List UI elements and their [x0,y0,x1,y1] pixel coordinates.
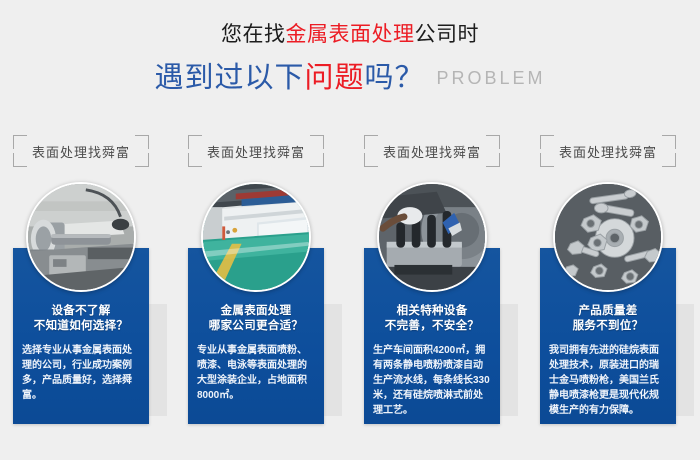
corner-bracket-top-left-icon [13,135,27,149]
card-text-block: 产品质量差 服务不到位？ 我司拥有先进的硅烷表面处理技术，原装进口的瑞士金马喷粉… [540,304,676,418]
card-text-block: 设备不了解 不知道如何选择？ 选择专业从事金属表面处理的公司，行业成功案例多，产… [13,304,149,403]
corner-bracket-top-right-icon [662,135,676,149]
heading-line-1: 您在找金属表面处理公司时 [0,22,700,48]
corner-bracket-bottom-right-icon [486,153,500,167]
card-title-line-1: 产品质量差 [549,304,667,319]
brand-tag-label: 表面处理找舜富 [32,142,130,161]
brand-tag: 表面处理找舜富 [184,134,328,168]
heading-line2-suffix: 吗？ [364,62,424,94]
card-text-block: 金属表面处理 哪家公司更合适？ 专业从事金属表面喷粉、喷漆、电泳等表面处理的大型… [188,304,324,403]
corner-bracket-bottom-left-icon [540,153,554,167]
brand-tag: 表面处理找舜富 [360,134,504,168]
card-title: 产品质量差 服务不到位？ [549,304,667,334]
problem-card[interactable]: 表面处理找舜富 金属表面处理 哪家公司更合适？ 专业从事金属表面喷粉、喷漆、电泳… [178,134,334,434]
card-title-line-2: 哪家公司更合适？ [197,319,315,334]
corner-bracket-bottom-right-icon [135,153,149,167]
heading-line1-highlight: 金属表面处理 [286,23,415,46]
heading-english-label: PROBLEM [437,68,546,88]
card-title-line-1: 设备不了解 [22,304,140,319]
corner-bracket-bottom-left-icon [13,153,27,167]
card-title: 相关特种设备 不完善，不安全？ [373,304,491,334]
heading-line2-prefix: 遇到过以下 [154,62,304,94]
brand-tag: 表面处理找舜富 [536,134,680,168]
corner-bracket-top-right-icon [486,135,500,149]
card-body-text: 选择专业从事金属表面处理的公司，行业成功案例多，产品质量好，选择舜富。 [22,343,140,403]
corner-bracket-top-left-icon [540,135,554,149]
problem-card[interactable]: 表面处理找舜富 设备不了解 不知道如何选择？ 选择专业从事金属表面处理的公司，行… [3,134,159,434]
brand-tag-label: 表面处理找舜富 [207,142,305,161]
corner-bracket-top-right-icon [310,135,324,149]
page-root: 您在找金属表面处理公司时 遇到过以下问题吗？PROBLEM 表面处理找舜富 设备… [0,0,700,460]
card-title-line-2: 服务不到位？ [549,319,667,334]
metal-parts-machining-photo [377,182,487,292]
card-title-line-2: 不知道如何选择？ [22,319,140,334]
problem-card[interactable]: 表面处理找舜富 产品质量差 服务不到位？ 我司拥有先进的硅烷表面处理技术，原装进… [530,134,686,434]
corner-bracket-top-left-icon [364,135,378,149]
card-title-line-1: 金属表面处理 [197,304,315,319]
heading-line2-highlight: 问题 [304,62,364,94]
page-heading: 您在找金属表面处理公司时 遇到过以下问题吗？PROBLEM [0,0,700,95]
brand-tag-label: 表面处理找舜富 [383,142,481,161]
corner-bracket-top-left-icon [188,135,202,149]
problem-card[interactable]: 表面处理找舜富 相关特种设备 不完善，不安全？ 生产车间面积4200㎡，拥有两条… [354,134,510,434]
card-title-line-2: 不完善，不安全？ [373,319,491,334]
fasteners-bolts-nuts-photo [553,182,663,292]
card-body-text: 生产车间面积4200㎡，拥有两条静电喷粉喷漆自动生产流水线，每条线长330米，还… [373,343,491,418]
card-text-block: 相关特种设备 不完善，不安全？ 生产车间面积4200㎡，拥有两条静电喷粉喷漆自动… [364,304,500,418]
card-title: 设备不了解 不知道如何选择？ [22,304,140,334]
cnc-lathe-photo [26,182,136,292]
factory-workshop-photo [201,182,311,292]
heading-line1-suffix: 公司时 [415,23,480,46]
card-body-text: 专业从事金属表面喷粉、喷漆、电泳等表面处理的大型涂装企业，占地面积8000㎡。 [197,343,315,403]
corner-bracket-bottom-right-icon [662,153,676,167]
corner-bracket-top-right-icon [135,135,149,149]
heading-line-2: 遇到过以下问题吗？PROBLEM [0,61,700,95]
card-title-line-1: 相关特种设备 [373,304,491,319]
card-body-text: 我司拥有先进的硅烷表面处理技术，原装进口的瑞士金马喷粉枪，美国兰氏静电喷漆枪更是… [549,343,667,418]
problem-card-list: 表面处理找舜富 设备不了解 不知道如何选择？ 选择专业从事金属表面处理的公司，行… [0,134,700,434]
heading-line1-prefix: 您在找 [221,23,286,46]
corner-bracket-bottom-left-icon [364,153,378,167]
card-title: 金属表面处理 哪家公司更合适？ [197,304,315,334]
brand-tag: 表面处理找舜富 [9,134,153,168]
corner-bracket-bottom-left-icon [188,153,202,167]
corner-bracket-bottom-right-icon [310,153,324,167]
brand-tag-label: 表面处理找舜富 [559,142,657,161]
